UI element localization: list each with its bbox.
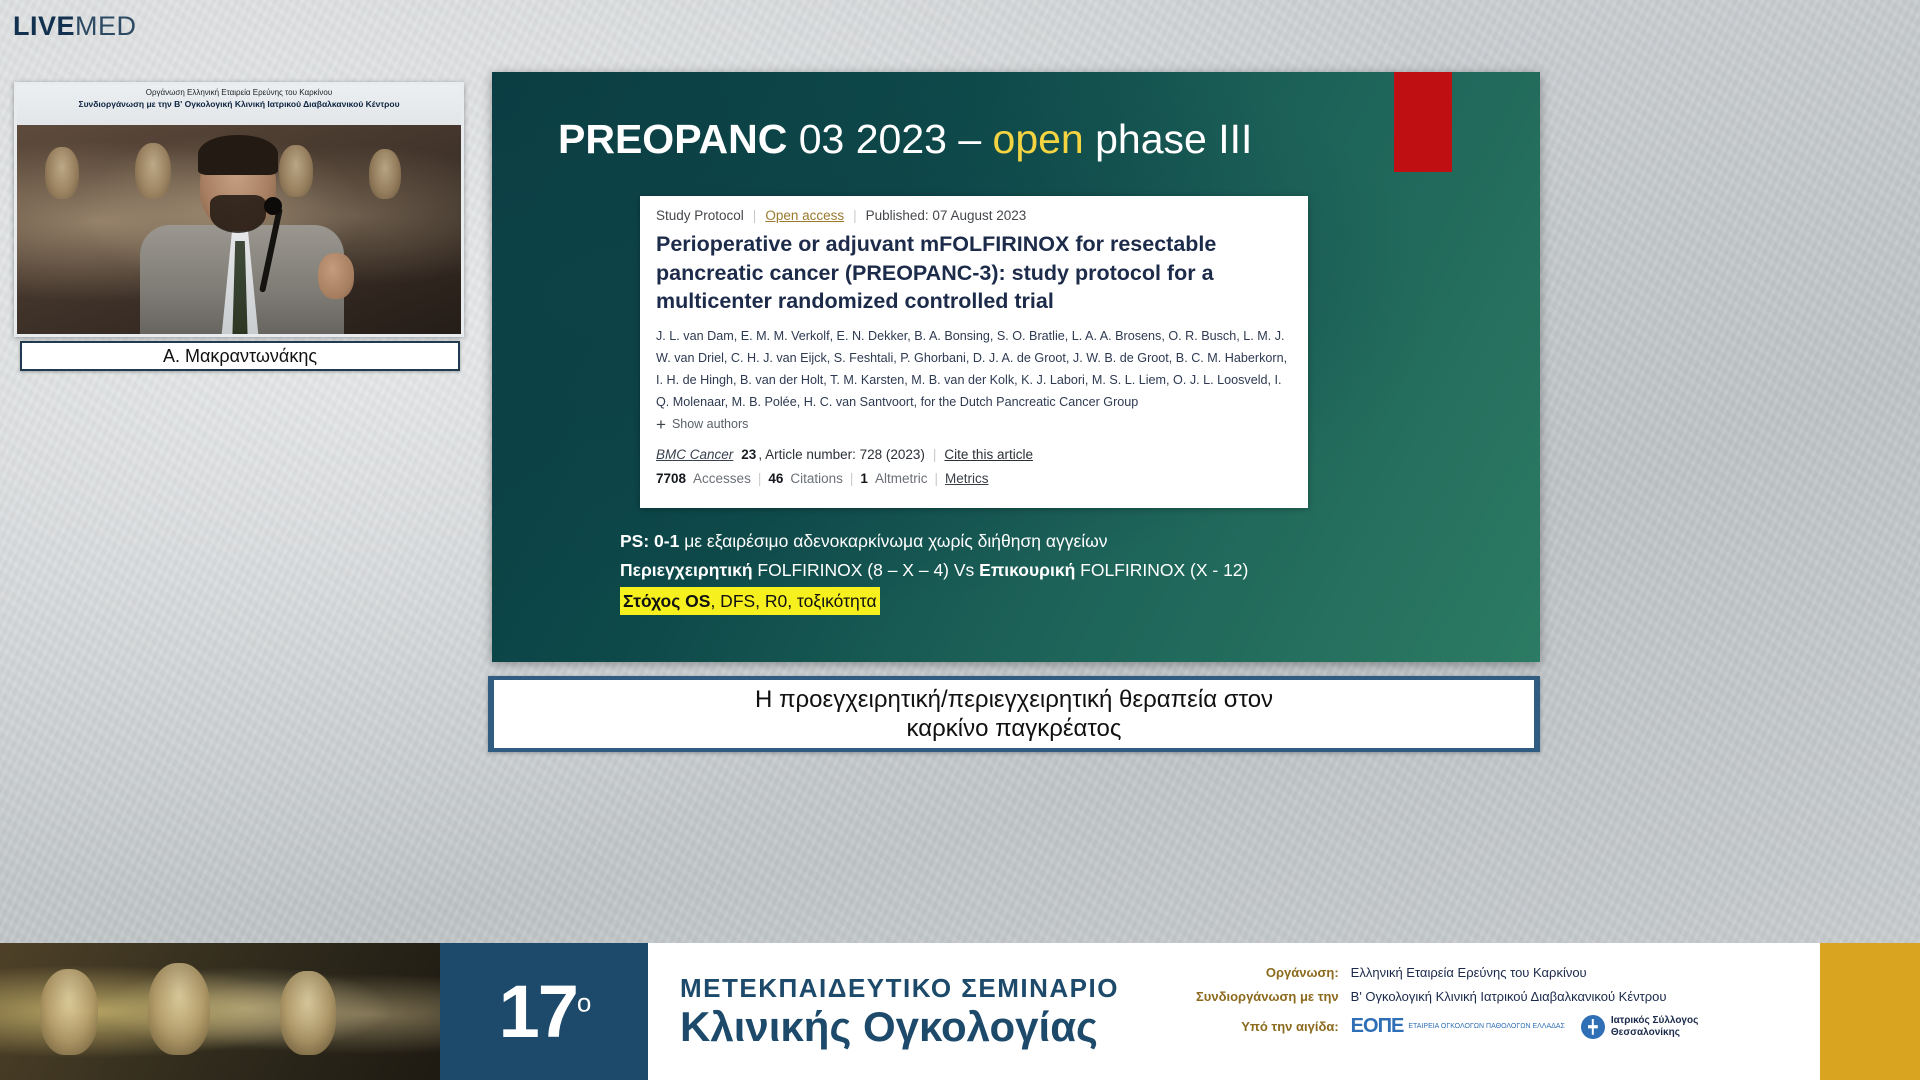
speaker-video[interactable]: Οργάνωση Ελληνική Εταιρεία Ερεύνης του Κ… bbox=[14, 82, 464, 337]
note2-tail: FOLFIRINOX (Χ - 12) bbox=[1075, 560, 1248, 580]
speaker-beard bbox=[210, 195, 266, 233]
plus-icon: + bbox=[656, 416, 666, 433]
journal-volume: 23 bbox=[741, 447, 756, 462]
eope-sub-text: ΕΤΑΙΡΕΙΑ ΟΓΚΟΛΟΓΩΝ ΠΑΘΟΛΟΓΩΝ ΕΛΛΑΔΑΣ bbox=[1408, 1023, 1564, 1030]
session-title-banner: Η προεγχειρητική/περιεγχειρητική θεραπεί… bbox=[488, 676, 1540, 752]
livemed-logo: LIVEMED bbox=[13, 13, 137, 40]
session-title-inner: Η προεγχειρητική/περιεγχειρητική θεραπεί… bbox=[494, 680, 1534, 748]
backdrop-face bbox=[369, 149, 401, 199]
organizer-row: Υπό την αιγίδα: ΕΟΠΕ ΕΤΑΙΡΕΙΑ ΟΓΚΟΛΟΓΩΝ … bbox=[1196, 1009, 1698, 1044]
note1-bold: PS: 0-1 bbox=[620, 531, 679, 551]
speaker-figure bbox=[122, 133, 362, 337]
published-date: Published: 07 August 2023 bbox=[866, 208, 1027, 223]
meta-separator: | bbox=[850, 471, 854, 486]
slide-note-line-2: Περιεγχειρητική FOLFIRINOX (8 – Χ – 4) V… bbox=[620, 557, 1480, 583]
citations-label: Citations bbox=[790, 471, 843, 486]
session-title-line1: Η προεγχειρητική/περιεγχειρητική θεραπεί… bbox=[755, 685, 1273, 714]
organizer-value-1: Ελληνική Εταιρεία Ερεύνης του Καρκίνου bbox=[1351, 961, 1699, 985]
logo-live-text: LIVE bbox=[13, 11, 75, 41]
footer-artwork bbox=[0, 943, 440, 1080]
presentation-slide[interactable]: PREOPANC 03 2023 – open phase III Study … bbox=[492, 72, 1540, 662]
meta-separator: | bbox=[853, 208, 857, 223]
metrics-link[interactable]: Metrics bbox=[945, 471, 989, 486]
organizer-label-3: Υπό την αιγίδα: bbox=[1196, 1009, 1351, 1044]
open-access-link[interactable]: Open access bbox=[765, 208, 844, 223]
footer-face bbox=[40, 969, 98, 1055]
organizer-row: Συνδιοργάνωση με την Β' Ογκολογική Κλινι… bbox=[1196, 985, 1698, 1009]
altmetric-label: Altmetric bbox=[875, 471, 928, 486]
organizer-value-2: Β' Ογκολογική Κλινική Ιατρικού Διαβαλκαν… bbox=[1351, 985, 1699, 1009]
eope-logo: ΕΟΠΕ ΕΤΑΙΡΕΙΑ ΟΓΚΟΛΟΓΩΝ ΠΑΘΟΛΟΓΩΝ ΕΛΛΑΔΑ… bbox=[1351, 1011, 1565, 1042]
article-meta-row: Study Protocol | Open access | Published… bbox=[656, 208, 1292, 223]
congress-footer: 17ο ΜΕΤΕΚΠΑΙΔΕΥΤΙΚΟ ΣΕΜΙΝΑΡΙΟ Κλινικής Ο… bbox=[0, 943, 1920, 1080]
video-stage-banner: Οργάνωση Ελληνική Εταιρεία Ερεύνης του Κ… bbox=[17, 85, 461, 125]
cross-icon bbox=[1581, 1015, 1605, 1039]
footer-gold-strip bbox=[1820, 943, 1920, 1080]
speaker-hair bbox=[198, 135, 278, 175]
article-metrics-row: 7708 Accesses | 46 Citations | 1 Altmetr… bbox=[656, 471, 1292, 486]
meta-separator: | bbox=[933, 447, 937, 462]
microphone-head-icon bbox=[264, 197, 282, 215]
slide-title: PREOPANC 03 2023 – open phase III bbox=[558, 117, 1252, 162]
journal-name-link[interactable]: BMC Cancer bbox=[656, 447, 733, 462]
congress-title-line2: Κλινικής Ογκολογίας bbox=[680, 1004, 1119, 1049]
auspices-logos: ΕΟΠΕ ΕΤΑΙΡΕΙΑ ΟΓΚΟΛΟΓΩΝ ΠΑΘΟΛΟΓΩΝ ΕΛΛΑΔΑ… bbox=[1351, 1011, 1699, 1042]
logo-med-text: MED bbox=[75, 11, 137, 41]
article-authors[interactable]: J. L. van Dam, E. M. M. Verkolf, E. N. D… bbox=[656, 325, 1292, 413]
note2-bold-2: Επικουρική bbox=[979, 560, 1075, 580]
note2-mid: FOLFIRINOX (8 – Χ – 4) Vs bbox=[753, 560, 980, 580]
slide-red-accent bbox=[1394, 72, 1452, 172]
slide-title-bold: PREOPANC bbox=[558, 116, 787, 162]
article-type: Study Protocol bbox=[656, 208, 744, 223]
organizers-block: Οργάνωση: Ελληνική Εταιρεία Ερεύνης του … bbox=[1196, 961, 1698, 1044]
note1-rest: με εξαιρέσιμο αδενοκαρκίνωμα χωρίς διήθη… bbox=[679, 531, 1107, 551]
slide-title-tail: phase III bbox=[1084, 116, 1253, 162]
slide-note-line-1: PS: 0-1 με εξαιρέσιμο αδενοκαρκίνωμα χωρ… bbox=[620, 528, 1480, 554]
slide-note-line-3: Στόχος OS, DFS, R0, τοξικότητα bbox=[620, 587, 1480, 615]
show-authors-label: Show authors bbox=[672, 417, 748, 431]
organizer-row: Οργάνωση: Ελληνική Εταιρεία Ερεύνης του … bbox=[1196, 961, 1698, 985]
article-title: Perioperative or adjuvant mFOLFIRINOX fo… bbox=[656, 230, 1292, 316]
accesses-count: 7708 bbox=[656, 471, 686, 486]
slide-title-plain: 03 2023 – bbox=[787, 116, 992, 162]
slide-title-accent: open bbox=[993, 116, 1084, 162]
congress-number: 17ο bbox=[499, 975, 590, 1049]
footer-face bbox=[148, 963, 210, 1055]
highlighted-objective: Στόχος OS, DFS, R0, τοξικότητα bbox=[620, 587, 880, 615]
meta-separator: | bbox=[934, 471, 938, 486]
citations-count: 46 bbox=[768, 471, 783, 486]
accesses-label: Accesses bbox=[693, 471, 751, 486]
isth-line2: Θεσσαλονίκης bbox=[1611, 1027, 1680, 1038]
video-backdrop-art bbox=[17, 125, 461, 337]
congress-number-block: 17ο bbox=[440, 943, 648, 1080]
meta-separator: | bbox=[758, 471, 762, 486]
meta-separator: | bbox=[753, 208, 757, 223]
note3-rest: , DFS, R0, τοξικότητα bbox=[710, 591, 876, 611]
eope-mark-text: ΕΟΠΕ bbox=[1351, 1011, 1404, 1042]
backdrop-face bbox=[45, 147, 79, 199]
congress-title: ΜΕΤΕΚΠΑΙΔΕΥΤΙΚΟ ΣΕΜΙΝΑΡΙΟ Κλινικής Ογκολ… bbox=[680, 973, 1119, 1049]
session-title-line2: καρκίνο παγκρέατος bbox=[907, 714, 1122, 743]
medical-association-text: Ιατρικός Σύλλογος Θεσσαλονίκης bbox=[1611, 1015, 1699, 1039]
speaker-name: Α. Μακραντωνάκης bbox=[163, 346, 317, 367]
article-number: , Article number: 728 (2023) bbox=[758, 447, 925, 462]
cite-this-article-link[interactable]: Cite this article bbox=[944, 447, 1033, 462]
organizer-label-2: Συνδιοργάνωση με την bbox=[1196, 985, 1351, 1009]
slide-notes: PS: 0-1 με εξαιρέσιμο αδενοκαρκίνωμα χωρ… bbox=[620, 528, 1480, 618]
footer-face bbox=[280, 971, 336, 1055]
article-card: Study Protocol | Open access | Published… bbox=[640, 196, 1308, 508]
speaker-hand bbox=[318, 253, 354, 299]
note2-bold-1: Περιεγχειρητική bbox=[620, 560, 753, 580]
note3-bold: Στόχος OS bbox=[623, 591, 710, 611]
video-banner-line2: Συνδιοργάνωση με την Β' Ογκολογική Κλινι… bbox=[25, 99, 453, 110]
journal-citation-row: BMC Cancer 23 , Article number: 728 (202… bbox=[656, 447, 1292, 462]
medical-association-logo: Ιατρικός Σύλλογος Θεσσαλονίκης bbox=[1581, 1015, 1699, 1039]
congress-ordinal: ο bbox=[577, 987, 589, 1017]
speaker-name-plate: Α. Μακραντωνάκης bbox=[20, 341, 460, 371]
congress-number-value: 17 bbox=[499, 970, 577, 1053]
congress-title-line1: ΜΕΤΕΚΠΑΙΔΕΥΤΙΚΟ ΣΕΜΙΝΑΡΙΟ bbox=[680, 973, 1119, 1004]
altmetric-count: 1 bbox=[860, 471, 868, 486]
video-banner-line1: Οργάνωση Ελληνική Εταιρεία Ερεύνης του Κ… bbox=[25, 88, 453, 99]
show-authors-toggle[interactable]: + Show authors bbox=[656, 416, 1292, 433]
isth-line1: Ιατρικός Σύλλογος bbox=[1611, 1015, 1699, 1026]
congress-details: ΜΕΤΕΚΠΑΙΔΕΥΤΙΚΟ ΣΕΜΙΝΑΡΙΟ Κλινικής Ογκολ… bbox=[648, 943, 1920, 1080]
organizer-label-1: Οργάνωση: bbox=[1196, 961, 1351, 985]
